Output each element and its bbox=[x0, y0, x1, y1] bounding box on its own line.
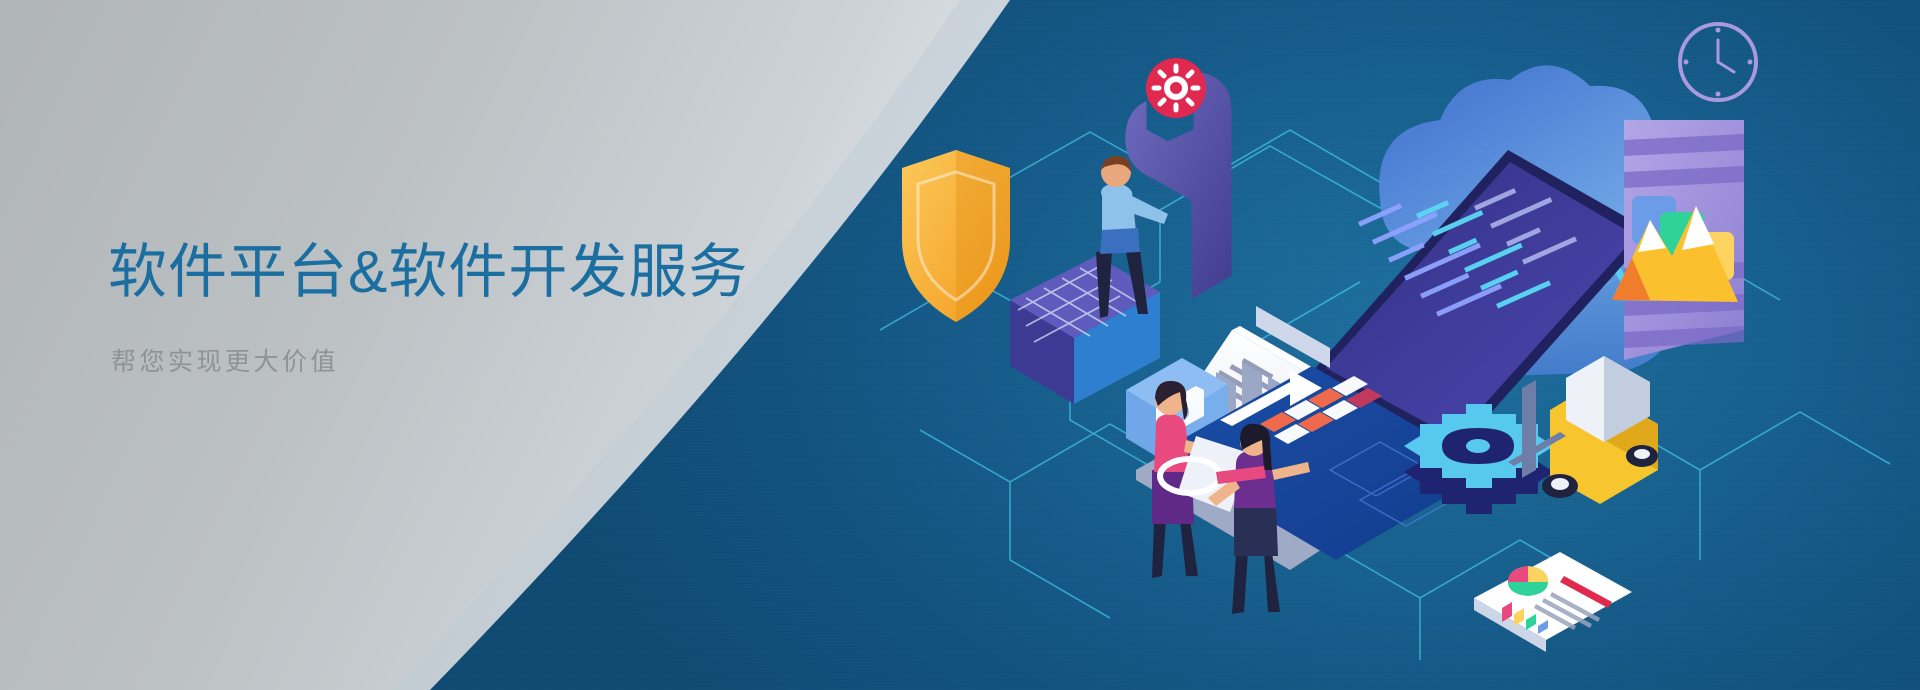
hero-banner: 软件平台&软件开发服务 帮您实现更大价值 bbox=[0, 0, 1920, 690]
illustration bbox=[860, 0, 1920, 690]
shield-icon bbox=[902, 150, 1010, 322]
banner-text: 软件平台&软件开发服务 帮您实现更大价值 bbox=[108, 238, 748, 378]
news-report-card bbox=[1474, 552, 1632, 652]
pie-chart-icon bbox=[1508, 566, 1548, 596]
clock-icon bbox=[1680, 24, 1756, 100]
page-subtitle: 帮您实现更大价值 bbox=[111, 342, 748, 378]
gear-badge-icon bbox=[1146, 58, 1206, 118]
page-title: 软件平台&软件开发服务 bbox=[108, 238, 748, 306]
